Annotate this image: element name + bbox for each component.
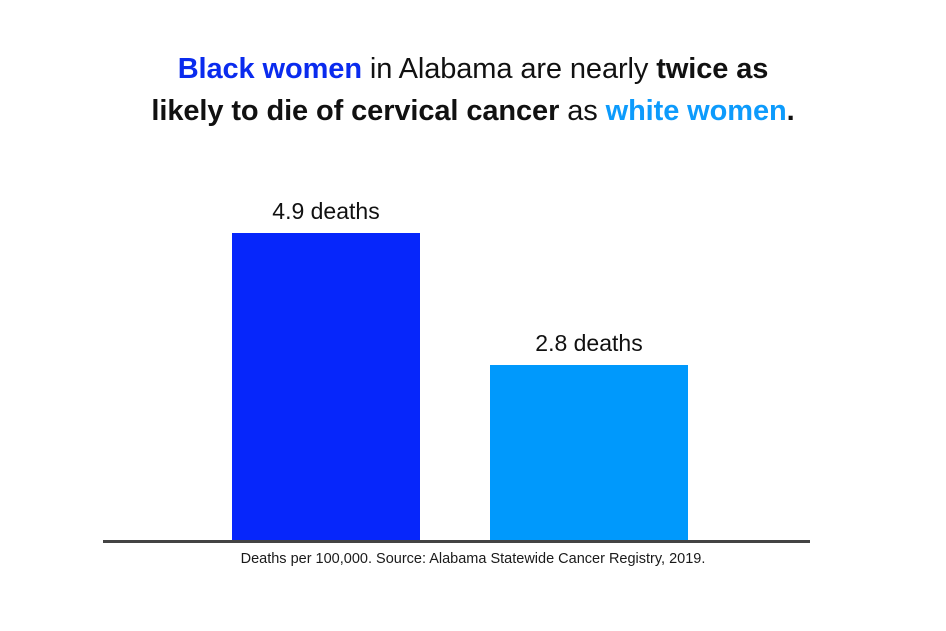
bar-white-women	[490, 365, 688, 540]
chart-footnote: Deaths per 100,000. Source: Alabama Stat…	[0, 551, 946, 567]
bar-label-white-women: 2.8 deaths	[490, 330, 688, 357]
bar-label-black-women: 4.9 deaths	[232, 198, 420, 225]
bar-chart: 4.9 deaths 2.8 deaths Deaths per 100,000…	[0, 0, 946, 631]
x-axis-baseline	[103, 540, 810, 543]
bar-black-women	[232, 233, 420, 540]
